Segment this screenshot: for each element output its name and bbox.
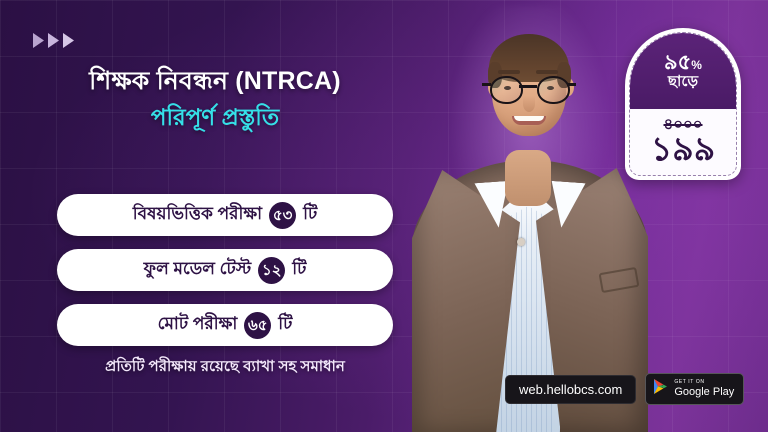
feature-label: বিষয়ভিত্তিক পরীক্ষা	[133, 201, 262, 229]
portrait-mouth	[512, 116, 546, 125]
list-item[interactable]: বিষয়ভিত্তিক পরীক্ষা ৫৩ টি	[57, 194, 393, 236]
portrait-nose	[523, 96, 535, 112]
triple-chevron-right-icon	[33, 33, 74, 48]
portrait-brow-right	[536, 70, 558, 74]
feature-note: প্রতিটি পরীক্ষায় রয়েছে ব্যাখা সহ সমাধা…	[57, 355, 393, 380]
portrait-lens-left	[490, 76, 523, 104]
feature-unit: টি	[278, 311, 292, 339]
discount-percent: ৯৫%	[664, 52, 702, 73]
google-play-icon	[653, 378, 668, 400]
page-subtitle: পরিপূর্ণ প্রস্তুতি	[0, 103, 430, 132]
footer-bar: web.hellobcs.com GET IT ON Google Play	[505, 373, 744, 405]
feature-unit: টি	[303, 201, 317, 229]
headline-block: শিক্ষক নিবন্ধন (NTRCA) পরিপূর্ণ প্রস্তুত…	[0, 66, 430, 132]
portrait-neck	[505, 150, 551, 206]
store-badge-line1: GET IT ON	[674, 380, 734, 385]
promo-banner: শিক্ষক নিবন্ধন (NTRCA) পরিপূর্ণ প্রস্তুত…	[0, 0, 768, 432]
portrait-shirt-button	[517, 238, 525, 246]
portrait-glasses-temple-right	[567, 83, 576, 86]
portrait-chin	[508, 126, 550, 140]
discount-badge: ৯৫% ছাড়ে ৪০০০ ১৯৯	[625, 28, 741, 180]
feature-list: বিষয়ভিত্তিক পরীক্ষা ৫৩ টি ফুল মডেল টেস্…	[57, 194, 393, 346]
page-title: শিক্ষক নিবন্ধন (NTRCA)	[0, 66, 430, 97]
list-item[interactable]: ফুল মডেল টেস্ট ১২ টি	[57, 249, 393, 291]
status-badge: ৫৩	[269, 202, 296, 229]
google-play-badge[interactable]: GET IT ON Google Play	[645, 373, 744, 405]
feature-label: ফুল মডেল টেস্ট	[144, 256, 252, 284]
status-badge: ৬৫	[244, 312, 271, 339]
portrait-glasses-temple-left	[482, 83, 491, 86]
store-badge-line2: Google Play	[674, 387, 734, 398]
feature-unit: টি	[292, 256, 306, 284]
new-price: ১৯৯	[630, 132, 736, 165]
portrait-lens-right	[537, 76, 570, 104]
feature-label: মোট পরীক্ষা	[158, 311, 238, 339]
portrait-brow-left	[498, 70, 520, 74]
list-item[interactable]: মোট পরীক্ষা ৬৫ টি	[57, 304, 393, 346]
discount-badge-header: ৯৫% ছাড়ে	[630, 33, 736, 109]
website-link[interactable]: web.hellobcs.com	[505, 375, 636, 404]
instructor-portrait	[404, 0, 654, 432]
discount-badge-inner: ৯৫% ছাড়ে ৪০০০ ১৯৯	[629, 32, 737, 176]
portrait-glasses-bridge	[519, 85, 537, 88]
status-badge: ১২	[258, 257, 285, 284]
discount-off-label: ছাড়ে	[668, 74, 698, 91]
